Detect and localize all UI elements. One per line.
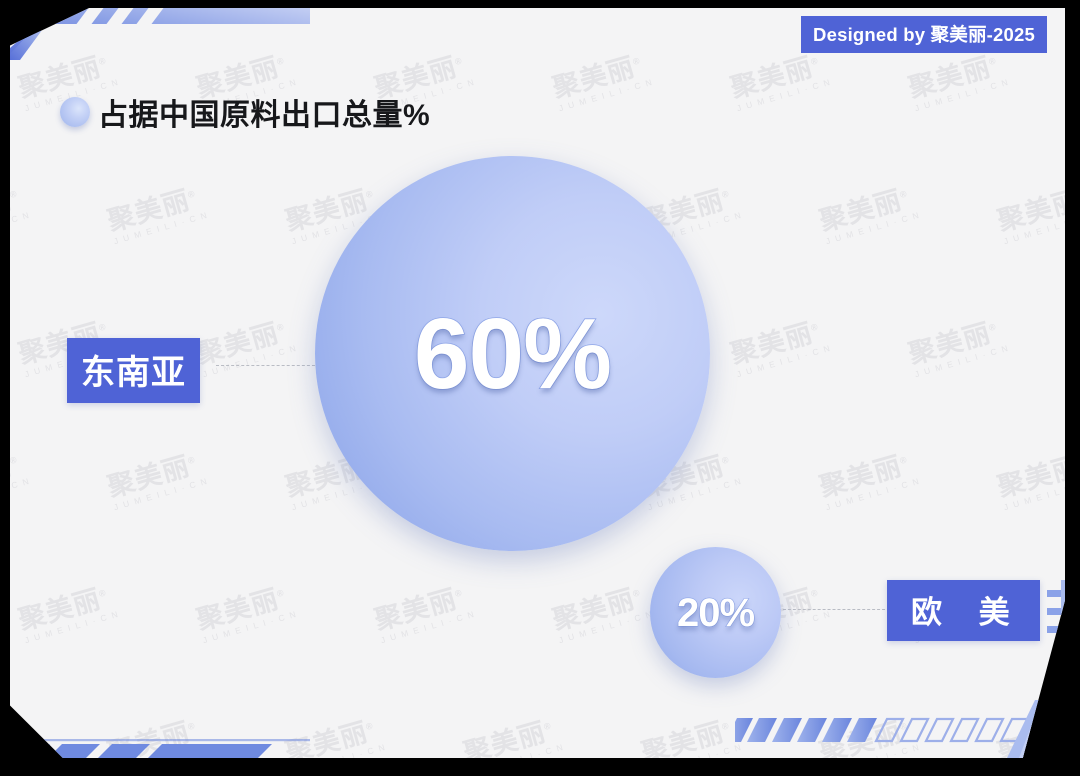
watermark-tile: 聚美丽®JUMEILI·CN [16, 580, 125, 646]
watermark-tile: 聚美丽®JUMEILI·CN [194, 580, 303, 646]
bubble-value-secondary: 20% [677, 593, 754, 633]
watermark-tile: 聚美丽®JUMEILI·CN [461, 713, 570, 758]
page-title-label: 占据中国原料出口总量% [98, 90, 430, 134]
watermark-tile: 聚美丽®JUMEILI·CN [10, 447, 35, 513]
designed-by-badge: Designed by 聚美丽-2025 [801, 16, 1047, 53]
page-title: 占据中国原料出口总量% [60, 90, 430, 134]
watermark-tile: 聚美丽®JUMEILI·CN [194, 314, 303, 380]
watermark-tile: 聚美丽®JUMEILI·CN [906, 48, 1015, 114]
watermark-tile: 聚美丽®JUMEILI·CN [550, 48, 659, 114]
decor-bottom-left-stripes [10, 700, 310, 758]
infographic-card: 聚美丽®JUMEILI·CN聚美丽®JUMEILI·CN聚美丽®JUMEILI·… [10, 8, 1065, 758]
watermark-tile: 聚美丽®JUMEILI·CN [995, 713, 1065, 758]
connector-europe-america [778, 609, 890, 610]
watermark-tile: 聚美丽®JUMEILI·CN [105, 181, 214, 247]
label-chip-europe-america[interactable]: 欧 美 [887, 580, 1040, 641]
watermark-tile: 聚美丽®JUMEILI·CN [728, 314, 837, 380]
watermark-tile: 聚美丽®JUMEILI·CN [817, 713, 926, 758]
label-chip-southeast-asia[interactable]: 东南亚 [67, 338, 200, 403]
watermark-tile: 聚美丽®JUMEILI·CN [283, 713, 392, 758]
watermark-tile: 聚美丽®JUMEILI·CN [105, 713, 214, 758]
watermark-tile: 聚美丽®JUMEILI·CN [10, 181, 35, 247]
watermark-tile: 聚美丽®JUMEILI·CN [372, 580, 481, 646]
watermark-tile: 聚美丽®JUMEILI·CN [105, 447, 214, 513]
watermark-tile: 聚美丽®JUMEILI·CN [906, 314, 1015, 380]
watermark-tile: 聚美丽®JUMEILI·CN [10, 713, 35, 758]
decor-bottom-right-stripes [735, 700, 1065, 758]
watermark-tile: 聚美丽®JUMEILI·CN [995, 181, 1065, 247]
gradient-circle-icon [60, 97, 90, 127]
watermark-tile: 聚美丽®JUMEILI·CN [550, 580, 659, 646]
bubble-value-primary: 60% [414, 304, 611, 404]
watermark-tile: 聚美丽®JUMEILI·CN [639, 713, 748, 758]
decor-top-left-bar [10, 8, 310, 60]
watermark-tile: 聚美丽®JUMEILI·CN [995, 447, 1065, 513]
watermark-tile: 聚美丽®JUMEILI·CN [728, 48, 837, 114]
infographic-canvas: 聚美丽®JUMEILI·CN聚美丽®JUMEILI·CN聚美丽®JUMEILI·… [0, 0, 1080, 776]
watermark-tile: 聚美丽®JUMEILI·CN [817, 447, 926, 513]
bubble-europe-america[interactable]: 20% [650, 547, 781, 678]
connector-southeast-asia [216, 365, 320, 366]
bubble-southeast-asia[interactable]: 60% [315, 156, 710, 551]
watermark-tile: 聚美丽®JUMEILI·CN [817, 181, 926, 247]
